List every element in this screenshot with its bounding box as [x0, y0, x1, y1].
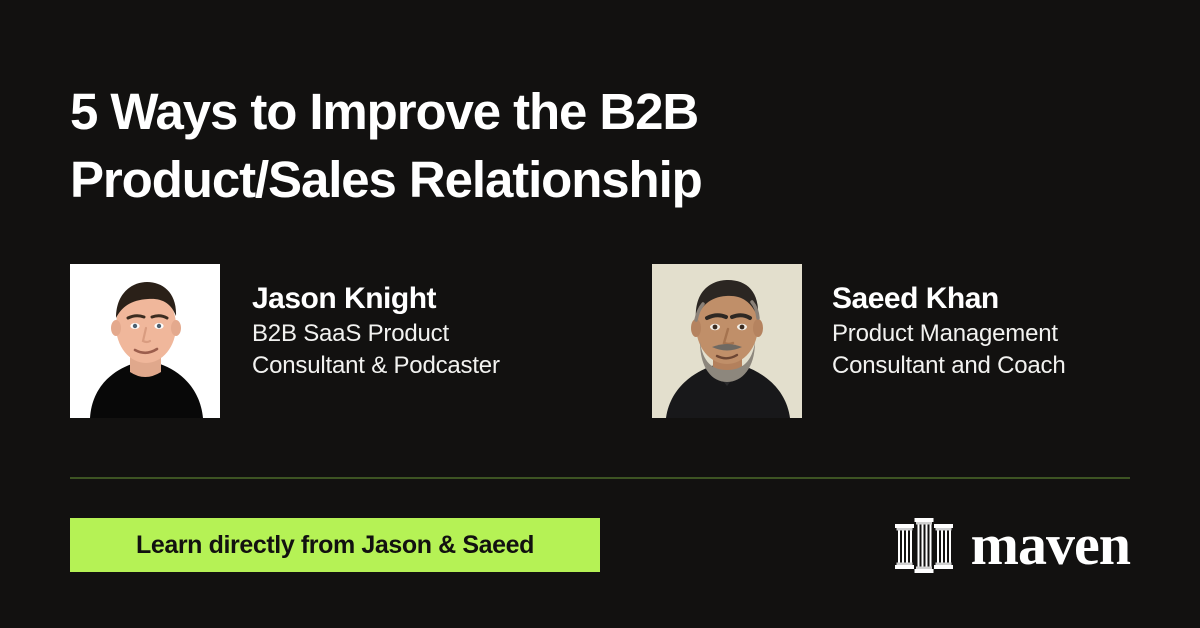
- avatar-jason-knight: [70, 264, 220, 418]
- speaker-name: Saeed Khan: [832, 280, 1066, 318]
- learn-directly-cta-button[interactable]: Learn directly from Jason & Saeed: [70, 518, 600, 572]
- speaker-role-line-2: Consultant & Podcaster: [252, 350, 500, 382]
- section-divider: [70, 477, 1130, 479]
- speaker-role-line-1: Product Management: [832, 318, 1066, 350]
- avatar-saeed-khan: [652, 264, 802, 418]
- speaker-role-line-2: Consultant and Coach: [832, 350, 1066, 382]
- maven-logo: maven: [893, 512, 1130, 578]
- maven-wordmark: maven: [971, 516, 1130, 574]
- speaker-card-saeed-khan: Saeed Khan Product Management Consultant…: [652, 264, 1066, 420]
- speaker-card-jason-knight: Jason Knight B2B SaaS Product Consultant…: [70, 264, 500, 420]
- page-title-line-1: 5 Ways to Improve the B2B: [70, 78, 910, 146]
- page-title: 5 Ways to Improve the B2B Product/Sales …: [70, 78, 910, 214]
- speaker-role-line-1: B2B SaaS Product: [252, 318, 500, 350]
- speaker-list: Jason Knight B2B SaaS Product Consultant…: [70, 264, 1130, 420]
- speaker-details-saeed-khan: Saeed Khan Product Management Consultant…: [832, 264, 1066, 382]
- promo-card: 5 Ways to Improve the B2B Product/Sales …: [0, 0, 1200, 628]
- cta-button-label: Learn directly from Jason & Saeed: [136, 531, 534, 560]
- speaker-name: Jason Knight: [252, 280, 500, 318]
- columns-icon: [893, 516, 955, 574]
- speaker-details-jason-knight: Jason Knight B2B SaaS Product Consultant…: [252, 264, 500, 382]
- page-title-line-2: Product/Sales Relationship: [70, 146, 910, 214]
